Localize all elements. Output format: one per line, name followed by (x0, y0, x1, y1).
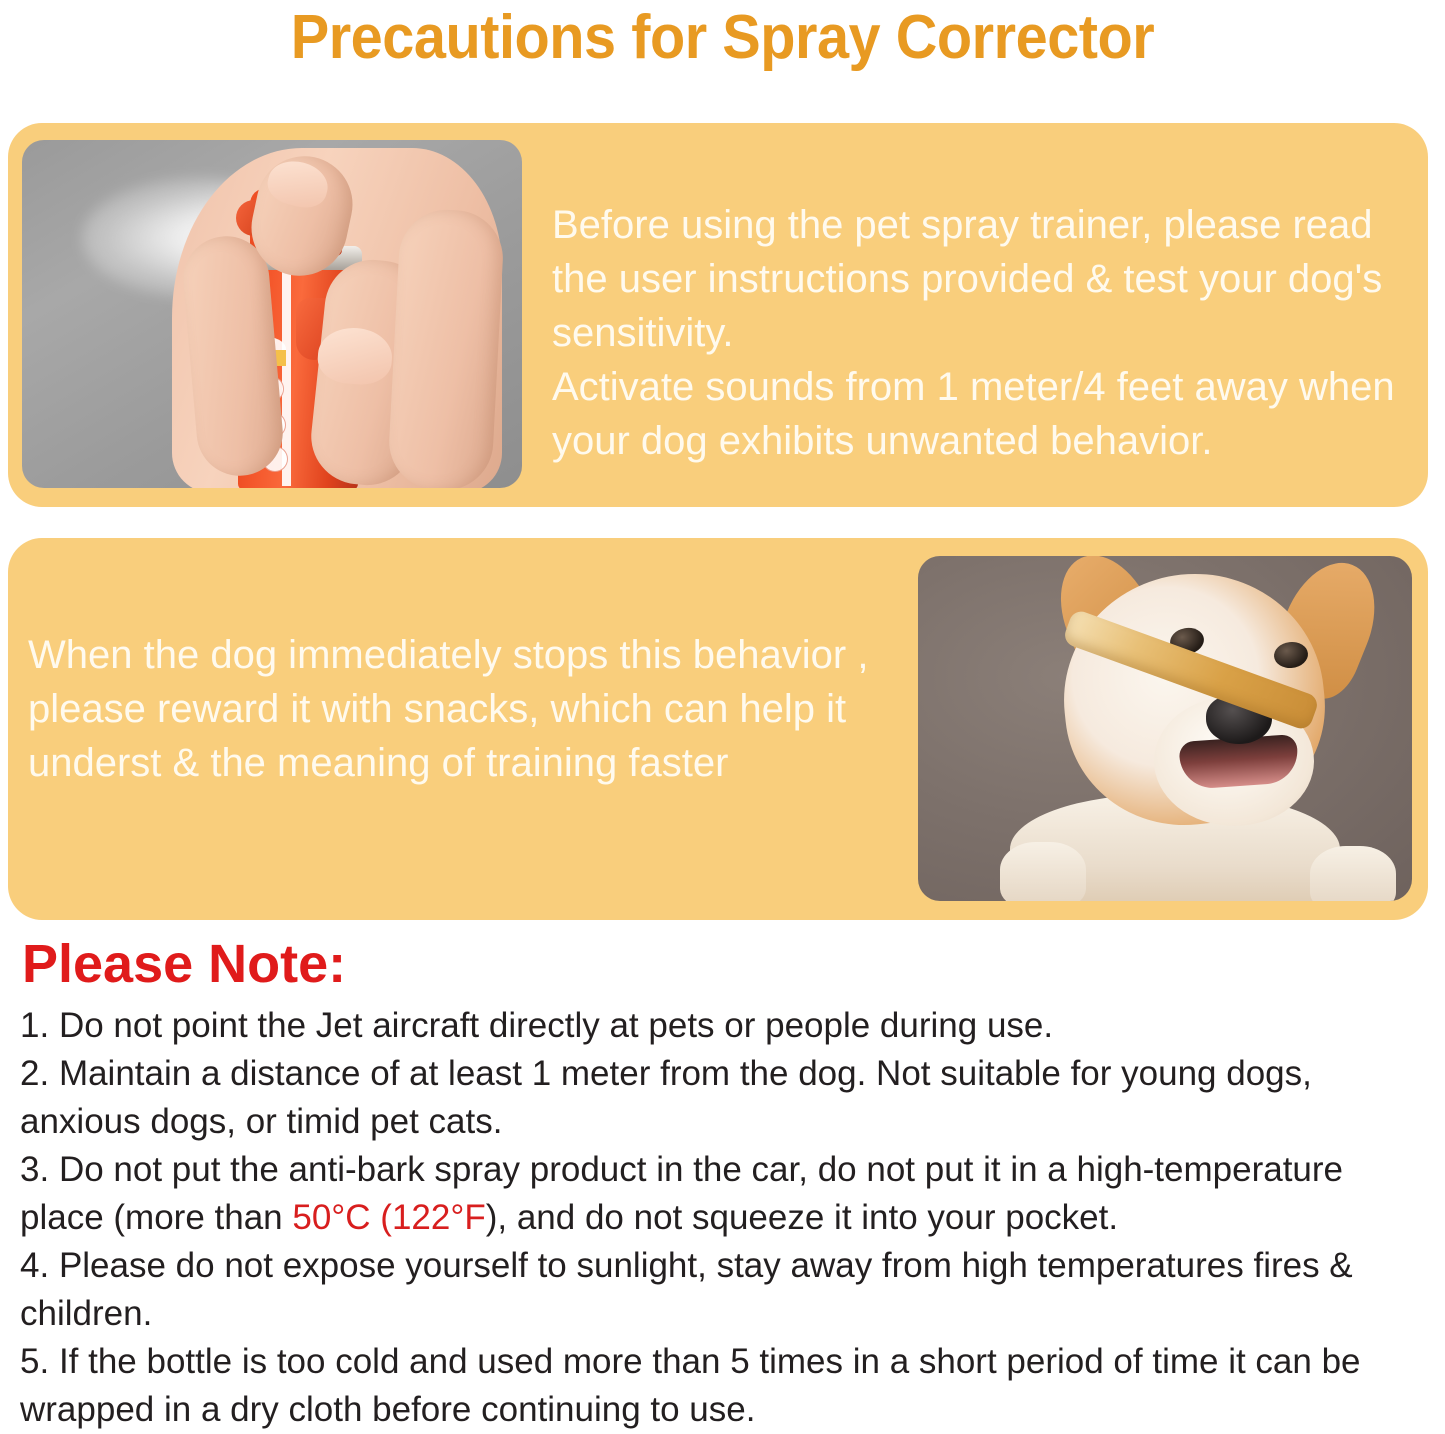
dog-paw-right (1310, 846, 1396, 901)
note-item-1: 1. Do not point the Jet aircraft directl… (20, 1002, 1428, 1050)
hand-holding-spray-can-photo (22, 140, 522, 488)
note-item-3: 3. Do not put the anti-bark spray produc… (20, 1146, 1428, 1242)
note-item-5-text: If the bottle is too cold and used more … (20, 1342, 1361, 1429)
note-item-3-text-after: ), and do not squeeze it into your pocke… (486, 1198, 1118, 1237)
note-item-2-number: 2. (20, 1054, 49, 1093)
panel-two-text: When the dog immediately stops this beha… (28, 628, 884, 790)
note-list: 1. Do not point the Jet aircraft directl… (20, 1002, 1428, 1434)
note-item-5: 5. If the bottle is too cold and used mo… (20, 1338, 1428, 1434)
note-item-4-number: 4. (20, 1246, 49, 1285)
note-heading: Please Note: (22, 934, 346, 994)
note-item-2-text: Maintain a distance of at least 1 meter … (20, 1054, 1312, 1141)
dog-paw-left (1000, 842, 1086, 901)
finger-shape (387, 207, 506, 488)
note-item-3-temperature-highlight: 50°C (122°F (292, 1198, 485, 1237)
note-item-1-number: 1. (20, 1006, 49, 1045)
corgi-dog-with-treat-photo (918, 556, 1412, 901)
note-item-1-text: Do not point the Jet aircraft directly a… (59, 1006, 1053, 1045)
note-item-4: 4. Please do not expose yourself to sunl… (20, 1242, 1428, 1338)
note-item-3-number: 3. (20, 1150, 49, 1189)
note-item-4-text: Please do not expose yourself to sunligh… (20, 1246, 1353, 1333)
note-item-5-number: 5. (20, 1342, 49, 1381)
page-title: Precautions for Spray Corrector (51, 2, 1395, 74)
panel-one-text: Before using the pet spray trainer, plea… (552, 198, 1408, 468)
note-item-2: 2. Maintain a distance of at least 1 met… (20, 1050, 1428, 1146)
